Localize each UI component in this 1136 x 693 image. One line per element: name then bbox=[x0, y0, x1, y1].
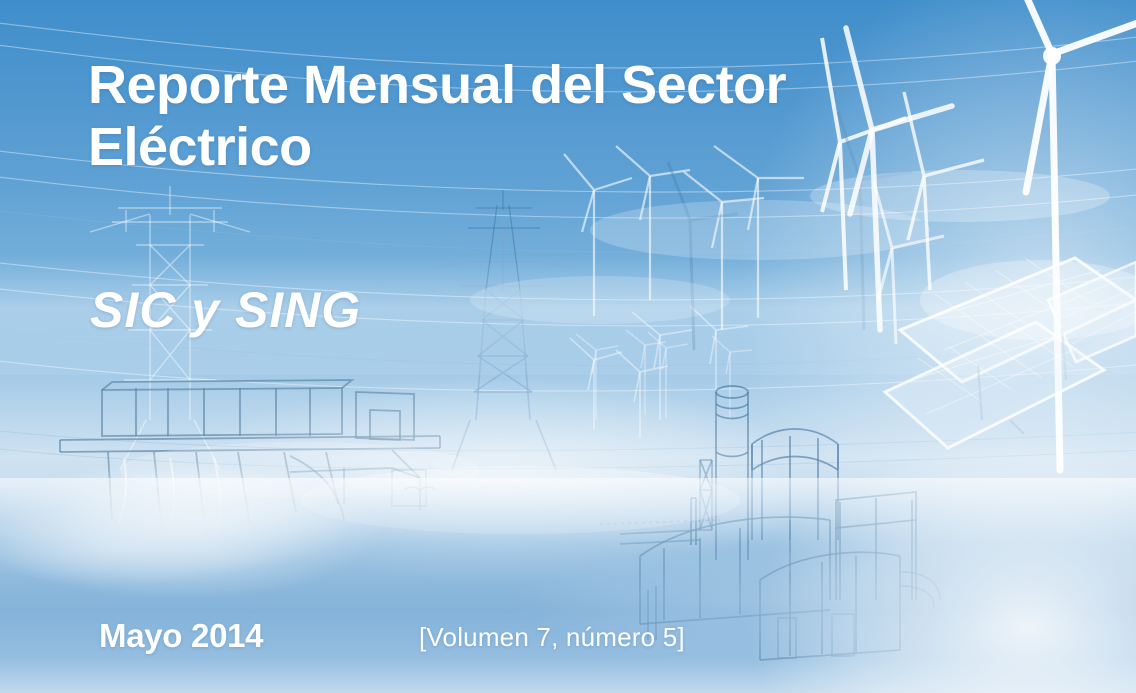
page-title-line-1: Reporte Mensual del Sector bbox=[88, 55, 786, 115]
river-mist bbox=[0, 506, 280, 586]
plant-chimney bbox=[716, 386, 748, 560]
report-cover: Reporte Mensual del Sector Eléctrico SIC… bbox=[0, 0, 1136, 693]
wind-turbine bbox=[712, 336, 752, 420]
plant-secondary-building bbox=[760, 552, 900, 660]
page-title-line-2: Eléctrico bbox=[88, 117, 312, 177]
hydroelectric-dam bbox=[60, 380, 440, 536]
dam-spillway bbox=[108, 452, 338, 534]
wind-turbine bbox=[690, 306, 748, 420]
wind-turbine-row-tiny bbox=[570, 306, 748, 438]
wind-turbine bbox=[564, 154, 632, 316]
mid-haze-overlay bbox=[120, 330, 880, 630]
wind-turbine bbox=[874, 182, 944, 344]
wind-turbine bbox=[904, 92, 984, 290]
solar-panel-supports bbox=[978, 328, 1066, 434]
wind-turbine-large-hub bbox=[1043, 47, 1061, 65]
solar-panel bbox=[885, 322, 1104, 448]
solar-panel bbox=[900, 258, 1136, 382]
wind-turbine bbox=[616, 350, 668, 438]
plant-small-stack bbox=[691, 498, 696, 545]
transmission-tower-center bbox=[432, 216, 574, 470]
plant-chimney-lattice bbox=[700, 460, 712, 530]
wind-turbine bbox=[632, 312, 692, 420]
page-subtitle: SIC y SING bbox=[90, 282, 361, 338]
plant-turbine-hall bbox=[836, 492, 916, 600]
bottom-right-haze-overlay bbox=[636, 333, 1136, 693]
wind-turbine bbox=[576, 334, 618, 420]
solar-panel bbox=[1048, 262, 1136, 362]
dam-apron bbox=[290, 450, 426, 520]
wind-turbine bbox=[648, 332, 688, 418]
plant-main-building bbox=[640, 517, 830, 624]
dam-mist bbox=[55, 468, 355, 572]
dam-annex bbox=[356, 392, 414, 440]
solar-panel-array bbox=[885, 258, 1136, 448]
cloud-wisps bbox=[120, 170, 1136, 534]
issue-date: Mayo 2014 bbox=[99, 617, 263, 655]
wind-turbine bbox=[570, 338, 622, 430]
wind-turbine bbox=[626, 330, 666, 415]
water-band-overlay bbox=[0, 478, 1136, 693]
dam-water-jets bbox=[118, 458, 220, 536]
page-title: Reporte Mensual del Sector Eléctrico bbox=[88, 54, 848, 178]
plant-ground-line bbox=[600, 520, 720, 524]
bird-icon bbox=[404, 487, 436, 490]
power-lines-faint bbox=[0, 210, 1136, 469]
dam-crest bbox=[60, 436, 440, 452]
transmission-tower-center-dark bbox=[468, 190, 540, 290]
thermal-power-plant bbox=[600, 386, 940, 660]
wind-turbine-large bbox=[1012, 0, 1136, 470]
wind-turbine-large-2 bbox=[846, 28, 952, 330]
issue-volume: [Volumen 7, número 5] bbox=[419, 620, 685, 654]
plant-boiler-house bbox=[752, 429, 838, 540]
wind-turbine-row-distant bbox=[576, 330, 752, 420]
dam-powerhouse bbox=[102, 380, 352, 436]
wind-turbine bbox=[684, 172, 764, 330]
